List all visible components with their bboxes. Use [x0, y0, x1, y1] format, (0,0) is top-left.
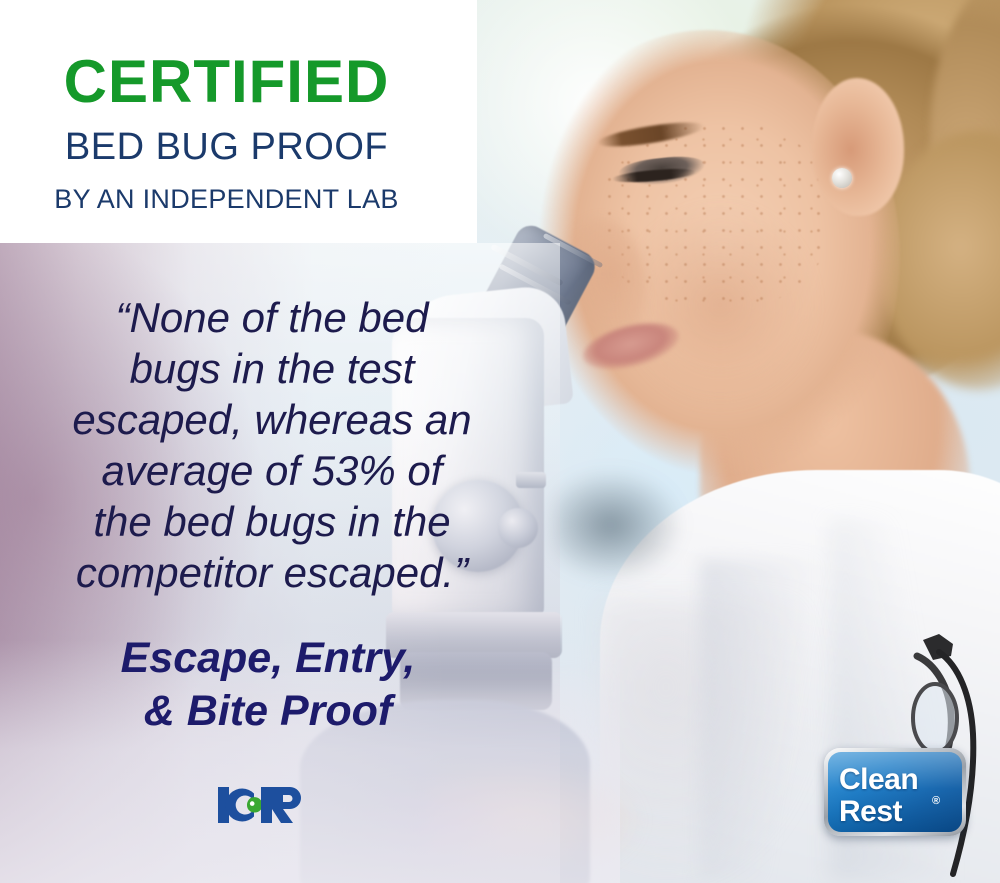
certified-bed-bug-proof-ad: CERTIFIED BED BUG PROOF BY AN INDEPENDEN…	[0, 0, 1000, 883]
quote-line: bugs in the test	[42, 343, 502, 394]
lab-quote: “None of the bed bugs in the test escape…	[42, 292, 502, 598]
quote-line: competitor escaped.”	[42, 547, 502, 598]
quote-line: “None of the bed	[42, 292, 502, 343]
microscope-lamp-glow	[350, 790, 540, 883]
microscope-fine-knob	[498, 508, 538, 548]
lab-coat-fold	[700, 560, 850, 880]
background-equipment	[552, 470, 682, 580]
microscope-lever	[516, 472, 546, 488]
cleanrest-logo-clean: Clean	[839, 765, 918, 795]
quote-line: average of 53% of	[42, 445, 502, 496]
headline-independent-lab: BY AN INDEPENDENT LAB	[0, 186, 477, 213]
quote-line: the bed bugs in the	[42, 496, 502, 547]
headline-bed-bug-proof: BED BUG PROOF	[0, 128, 477, 166]
icr-logo	[216, 784, 310, 826]
product-tagline: Escape, Entry, & Bite Proof	[48, 632, 488, 738]
tagline-line: Escape, Entry,	[48, 632, 488, 685]
certification-header-card: CERTIFIED BED BUG PROOF BY AN INDEPENDEN…	[0, 0, 477, 243]
headline-certified: CERTIFIED	[0, 52, 477, 112]
registered-trademark-icon: ®	[932, 796, 940, 807]
cleanrest-logo-rest: Rest	[839, 797, 902, 827]
cleanrest-logo: Clean Rest ®	[824, 748, 966, 836]
ear-shape	[812, 78, 904, 216]
cleanrest-logo-badge: Clean Rest ®	[828, 752, 962, 832]
quote-line: escaped, whereas an	[42, 394, 502, 445]
tagline-line: & Bite Proof	[48, 685, 488, 738]
earring-icon	[832, 168, 852, 188]
